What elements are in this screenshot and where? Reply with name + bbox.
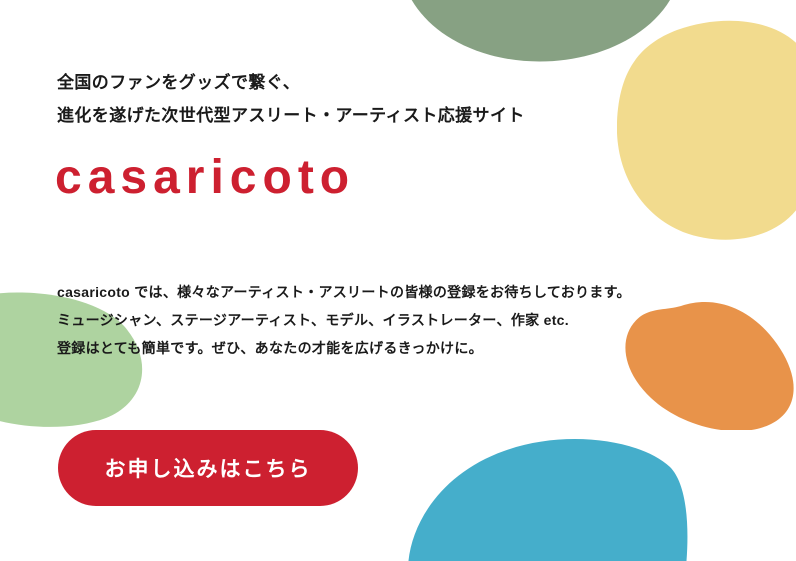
body-line-2: ミュージシャン、ステージアーティスト、モデル、イラストレーター、作家 etc.: [57, 306, 631, 334]
body-line-3: 登録はとても簡単です。ぜひ、あなたの才能を広げるきっかけに。: [57, 334, 631, 362]
landing-page: 全国のファンをグッズで繋ぐ、 進化を遂げた次世代型アスリート・アーティスト応援サ…: [0, 0, 796, 561]
page-headline: 全国のファンをグッズで繋ぐ、 進化を遂げた次世代型アスリート・アーティスト応援サ…: [57, 66, 525, 132]
brand-logo: casaricoto: [55, 148, 355, 208]
body-copy: casaricoto では、様々なアーティスト・アスリートの皆様の登録をお待ちし…: [57, 278, 631, 362]
headline-line-2: 進化を遂げた次世代型アスリート・アーティスト応援サイト: [57, 99, 525, 132]
headline-line-1: 全国のファンをグッズで繋ぐ、: [57, 66, 525, 99]
hero-content: 全国のファンをグッズで繋ぐ、 進化を遂げた次世代型アスリート・アーティスト応援サ…: [0, 0, 796, 561]
apply-now-button[interactable]: お申し込みはこちら: [58, 430, 358, 506]
body-line-1: casaricoto では、様々なアーティスト・アスリートの皆様の登録をお待ちし…: [57, 278, 631, 306]
